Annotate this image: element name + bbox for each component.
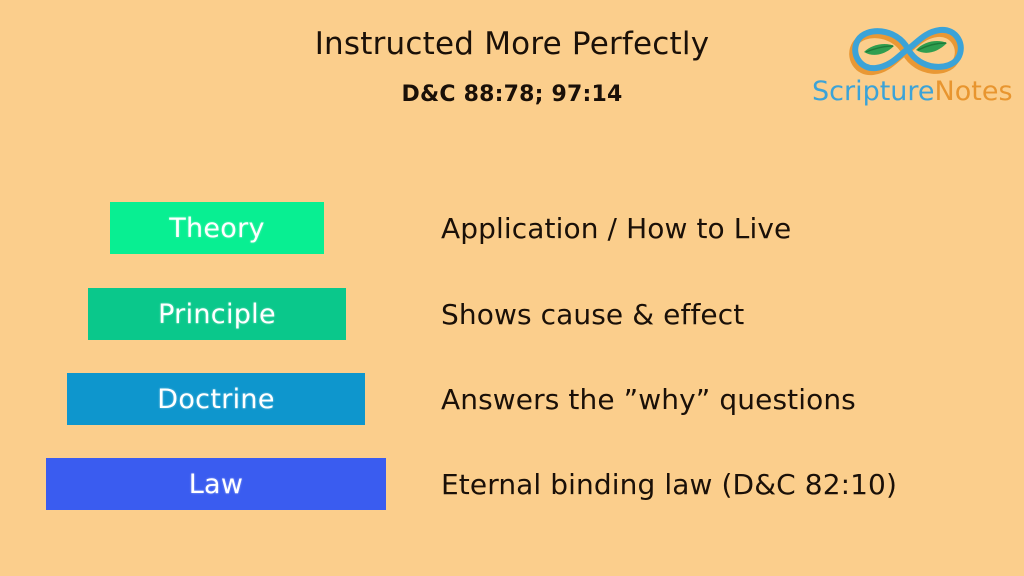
logo-wordmark: ScriptureNotes — [812, 78, 1002, 105]
logo-word-notes: Notes — [935, 76, 1013, 107]
pyramid-row: Law Eternal binding law (D&C 82:10) — [0, 458, 1024, 510]
pyramid-description-doctrine: Answers the ”why” questions — [441, 373, 856, 425]
pyramid-bar-principle[interactable]: Principle — [88, 288, 346, 340]
pyramid-row: Theory Application / How to Live — [0, 202, 1024, 254]
pyramid-row: Principle Shows cause & effect — [0, 288, 1024, 340]
infinity-leaves-icon — [838, 18, 978, 80]
pyramid-description-theory: Application / How to Live — [441, 202, 791, 254]
pyramid-row: Doctrine Answers the ”why” questions — [0, 373, 1024, 425]
pyramid-bar-theory[interactable]: Theory — [110, 202, 324, 254]
slide-canvas: Instructed More Perfectly D&C 88:78; 97:… — [0, 0, 1024, 576]
scripturenotes-logo: ScriptureNotes — [812, 18, 1002, 118]
pyramid-bar-law[interactable]: Law — [46, 458, 386, 510]
pyramid-description-principle: Shows cause & effect — [441, 288, 744, 340]
pyramid-description-law: Eternal binding law (D&C 82:10) — [441, 458, 897, 510]
pyramid-bar-doctrine[interactable]: Doctrine — [67, 373, 365, 425]
logo-word-scripture: Scripture — [812, 76, 935, 107]
